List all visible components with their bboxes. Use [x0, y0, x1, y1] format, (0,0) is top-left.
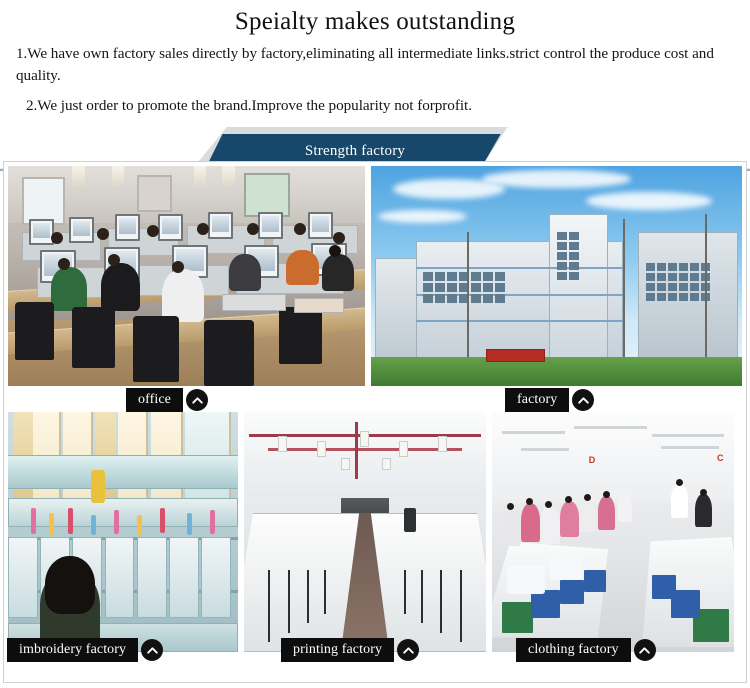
photo-label-office[interactable]: office: [126, 388, 208, 412]
photo-factory: [371, 166, 742, 386]
gallery-cell-factory[interactable]: factory: [371, 166, 742, 386]
gallery-cell-office[interactable]: office: [8, 166, 365, 386]
chevron-up-icon[interactable]: [141, 639, 163, 661]
photo-label-factory-text: factory: [505, 388, 569, 412]
photo-label-clothing-text: clothing factory: [516, 638, 631, 662]
bullet-item-2: 2.We just order to promote the brand.Imp…: [14, 86, 744, 117]
photo-label-office-text: office: [126, 388, 183, 412]
gallery-row-top: office: [8, 166, 742, 386]
photo-gallery: office: [3, 161, 747, 683]
photo-label-factory[interactable]: factory: [505, 388, 594, 412]
photo-label-printing-text: printing factory: [281, 638, 394, 662]
photo-label-embroidery-text: imbroidery factory: [7, 638, 138, 662]
promo-page: Speialty makes outstanding 1.We have own…: [0, 0, 750, 688]
chevron-up-icon[interactable]: [634, 639, 656, 661]
photo-label-printing[interactable]: printing factory: [281, 638, 419, 662]
page-title: Speialty makes outstanding: [0, 2, 750, 39]
gallery-cell-clothing[interactable]: D C: [492, 412, 734, 652]
chevron-up-icon[interactable]: [186, 389, 208, 411]
photo-embroidery: [8, 412, 238, 652]
bullet-list: 1.We have own factory sales directly by …: [0, 39, 750, 117]
photo-label-clothing[interactable]: clothing factory: [516, 638, 656, 662]
photo-label-embroidery[interactable]: imbroidery factory: [7, 638, 163, 662]
photo-office: [8, 166, 365, 386]
banner-label: Strength factory: [301, 143, 405, 160]
photo-printing: [244, 412, 486, 652]
header-section: Speialty makes outstanding 1.We have own…: [0, 0, 750, 117]
gallery-cell-embroidery[interactable]: imbroidery factory: [8, 412, 238, 652]
gallery-row-bottom: imbroidery factory: [8, 412, 742, 652]
photo-clothing: D C: [492, 412, 734, 652]
chevron-up-icon[interactable]: [397, 639, 419, 661]
bullet-item-1: 1.We have own factory sales directly by …: [14, 43, 744, 86]
gallery-cell-printing[interactable]: printing factory: [244, 412, 486, 652]
chevron-up-icon[interactable]: [572, 389, 594, 411]
